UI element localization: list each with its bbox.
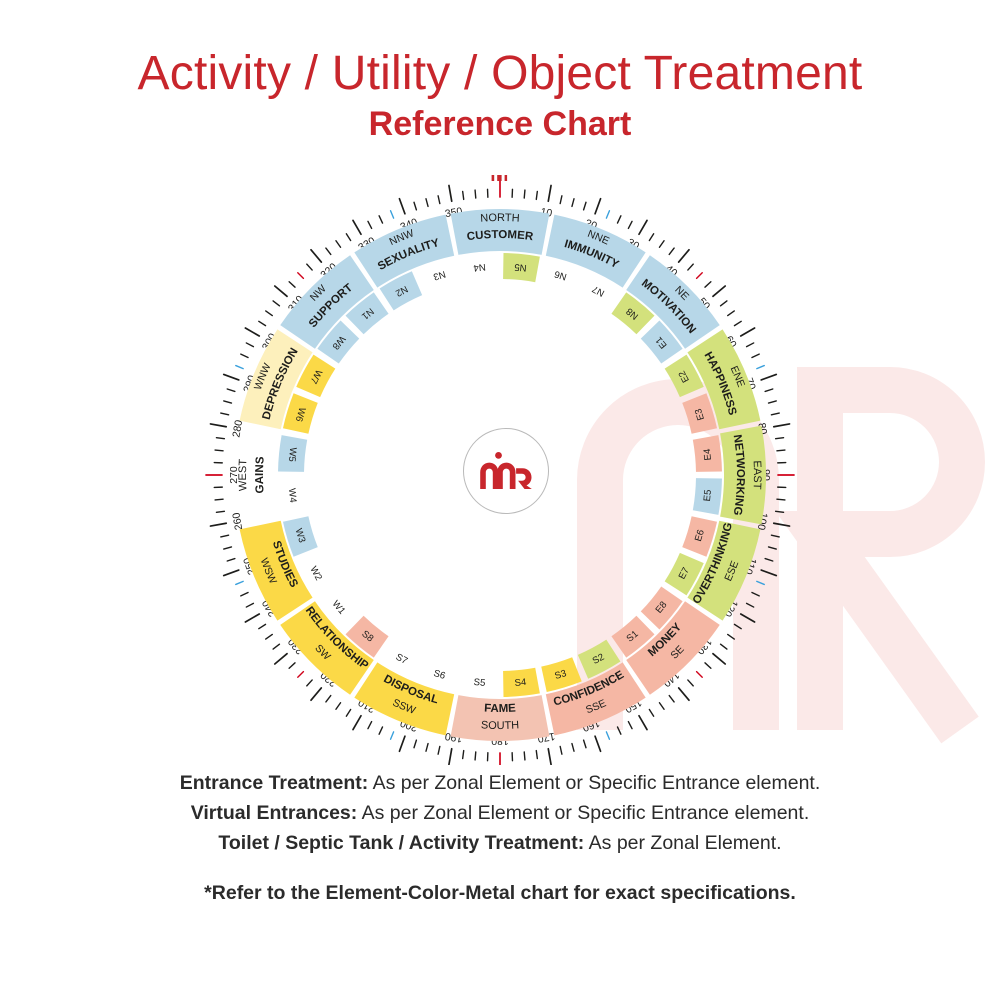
title-line-1: Activity / Utility / Object Treatment bbox=[0, 48, 1000, 100]
title-line-2: Reference Chart bbox=[0, 104, 1000, 144]
degree-tick bbox=[245, 614, 259, 622]
degree-tick bbox=[734, 321, 741, 325]
degree-tick bbox=[765, 559, 773, 561]
degree-tick bbox=[761, 374, 776, 379]
degree-tick bbox=[774, 523, 790, 526]
degree-tick bbox=[346, 709, 350, 716]
degree-tick bbox=[236, 581, 243, 584]
degree-tick bbox=[336, 703, 341, 710]
degree-tick bbox=[606, 732, 609, 739]
degree-tick bbox=[679, 688, 689, 700]
page-title: Activity / Utility / Object Treatment Re… bbox=[0, 48, 1000, 144]
degree-tick bbox=[236, 366, 243, 369]
degree-tick bbox=[259, 321, 266, 325]
degree-tick bbox=[245, 328, 259, 336]
degree-tick bbox=[475, 190, 476, 198]
degree-tick bbox=[669, 248, 674, 254]
degree-tick bbox=[639, 716, 647, 730]
degree-tick bbox=[414, 202, 416, 210]
subzone-label-e5: E5 bbox=[702, 489, 714, 502]
degree-tick bbox=[463, 191, 464, 199]
degree-tick bbox=[326, 696, 331, 702]
degree-tick bbox=[669, 696, 674, 702]
degree-tick bbox=[224, 401, 232, 403]
sector-south[interactable] bbox=[451, 695, 550, 741]
degree-tick bbox=[438, 746, 440, 754]
degree-tick bbox=[216, 438, 224, 439]
degree-tick bbox=[346, 234, 350, 241]
degree-tick bbox=[649, 709, 653, 716]
degree-tick bbox=[757, 581, 764, 584]
degree-tick bbox=[721, 644, 727, 649]
degree-tick bbox=[368, 221, 372, 228]
footer-row: Entrance Treatment: As per Zonal Element… bbox=[0, 768, 1000, 798]
degree-tick bbox=[246, 343, 253, 347]
footer-note: *Refer to the Element-Color-Metal chart … bbox=[0, 882, 1000, 905]
degree-tick bbox=[765, 389, 773, 391]
degree-tick bbox=[399, 736, 404, 751]
degree-tick bbox=[210, 523, 226, 526]
degree-tick bbox=[289, 282, 295, 287]
degree-tick bbox=[426, 199, 428, 207]
degree-tick bbox=[227, 559, 235, 561]
degree-tick bbox=[215, 499, 223, 500]
degree-tick bbox=[298, 672, 304, 678]
degree-tick bbox=[216, 511, 224, 512]
degree-tick bbox=[463, 751, 464, 759]
degree-tick bbox=[705, 282, 711, 287]
degree-tick bbox=[776, 511, 784, 512]
degree-tick bbox=[697, 672, 703, 678]
degree-tick bbox=[536, 191, 537, 199]
degree-tick bbox=[757, 366, 764, 369]
degree-tick bbox=[679, 250, 689, 262]
sector-direction-east: EAST bbox=[751, 460, 763, 490]
subzone-label-w4: W4 bbox=[286, 488, 298, 504]
subzone-label-s7: S7 bbox=[394, 652, 410, 667]
footer-notes: Entrance Treatment: As per Zonal Element… bbox=[0, 768, 1000, 905]
degree-tick bbox=[697, 273, 703, 279]
degree-tick bbox=[266, 311, 273, 316]
degree-tick bbox=[713, 286, 725, 296]
footer-row-label: Entrance Treatment: bbox=[180, 772, 369, 794]
degree-tick bbox=[659, 241, 664, 248]
degree-tick bbox=[659, 703, 664, 710]
degree-tick bbox=[241, 354, 248, 357]
degree-tick bbox=[769, 401, 777, 403]
degree-tick bbox=[215, 450, 223, 451]
degree-tick bbox=[560, 746, 562, 754]
degree-tick bbox=[572, 199, 574, 207]
footer-row: Toilet / Septic Tank / Activity Treatmen… bbox=[0, 828, 1000, 858]
degree-tick bbox=[774, 424, 790, 427]
degree-tick bbox=[273, 301, 279, 306]
subzone-label-n3: N3 bbox=[432, 268, 447, 282]
degree-tick bbox=[584, 740, 586, 748]
degree-tick bbox=[628, 722, 632, 729]
degree-tick bbox=[438, 196, 440, 204]
degree-tick bbox=[639, 220, 647, 234]
degree-tick bbox=[241, 592, 248, 595]
degree-tick bbox=[307, 680, 312, 686]
degree-tick bbox=[752, 592, 759, 595]
degree-tick bbox=[426, 744, 428, 752]
degree-tick bbox=[475, 752, 476, 760]
subzone-label-n5: N5 bbox=[514, 261, 527, 273]
degree-tick bbox=[747, 603, 754, 607]
footer-row: Virtual Entrances: As per Zonal Element … bbox=[0, 798, 1000, 828]
degree-tick bbox=[728, 634, 735, 639]
degree-tick bbox=[777, 499, 785, 500]
degree-tick bbox=[728, 311, 735, 316]
degree-tick bbox=[224, 547, 232, 549]
degree-tick bbox=[224, 570, 239, 575]
degree-tick bbox=[595, 199, 600, 214]
degree-tick bbox=[266, 634, 273, 639]
degree-tick bbox=[326, 248, 331, 254]
degree-tick bbox=[734, 624, 741, 628]
degree-tick bbox=[560, 196, 562, 204]
sector-direction-south: SOUTH bbox=[481, 719, 520, 732]
degree-label: 260 bbox=[230, 511, 245, 530]
degree-tick bbox=[221, 413, 229, 415]
degree-tick bbox=[449, 185, 452, 201]
degree-tick bbox=[713, 654, 725, 664]
degree-tick bbox=[752, 354, 759, 357]
degree-tick bbox=[761, 570, 776, 575]
degree-tick bbox=[548, 749, 551, 765]
degree-tick bbox=[353, 716, 361, 730]
degree-tick bbox=[617, 216, 620, 223]
subzone-label-w1: W1 bbox=[330, 599, 348, 617]
degree-tick bbox=[336, 241, 341, 248]
degree-tick bbox=[584, 202, 586, 210]
degree-tick bbox=[399, 199, 404, 214]
degree-tick bbox=[536, 751, 537, 759]
degree-tick bbox=[273, 644, 279, 649]
sector-name-fame: FAME bbox=[484, 702, 517, 715]
degree-tick bbox=[572, 744, 574, 752]
degree-tick bbox=[353, 220, 361, 234]
subzone-label-s5: S5 bbox=[473, 677, 486, 689]
degree-tick bbox=[379, 216, 382, 223]
subzone-label-s4: S4 bbox=[514, 677, 527, 689]
degree-tick bbox=[769, 547, 777, 549]
degree-tick bbox=[275, 654, 287, 664]
footer-row-label: Toilet / Septic Tank / Activity Treatmen… bbox=[218, 832, 584, 854]
degree-tick bbox=[747, 343, 754, 347]
degree-tick bbox=[776, 438, 784, 439]
degree-tick bbox=[311, 688, 321, 700]
north-logo-marker-icon bbox=[492, 175, 508, 181]
sector-direction-north: NORTH bbox=[480, 212, 520, 225]
subzone-label-e4: E4 bbox=[702, 447, 714, 460]
subzone-label-n6: N6 bbox=[553, 268, 568, 282]
degree-tick bbox=[595, 736, 600, 751]
degree-tick bbox=[628, 221, 632, 228]
degree-tick bbox=[368, 722, 372, 729]
footer-row-label: Virtual Entrances: bbox=[191, 802, 358, 824]
degree-tick bbox=[246, 603, 253, 607]
subzone-label-n7: N7 bbox=[591, 283, 607, 298]
degree-tick bbox=[777, 450, 785, 451]
degree-label: 280 bbox=[230, 419, 245, 438]
sector-name-gains: GAINS bbox=[254, 456, 267, 494]
degree-tick bbox=[741, 328, 755, 336]
degree-tick bbox=[688, 680, 693, 686]
degree-tick bbox=[617, 727, 620, 734]
degree-tick bbox=[289, 663, 295, 668]
sector-direction-west: WEST bbox=[237, 458, 250, 491]
subzone-label-s6: S6 bbox=[432, 668, 446, 682]
degree-tick bbox=[227, 389, 235, 391]
degree-tick bbox=[414, 740, 416, 748]
degree-tick bbox=[771, 413, 779, 415]
degree-tick bbox=[548, 185, 551, 201]
footer-row-value: As per Zonal Element or Specific Entranc… bbox=[368, 772, 820, 794]
degree-tick bbox=[307, 264, 312, 270]
subzone-label-w5: W5 bbox=[286, 447, 298, 462]
subzone-label-n4: N4 bbox=[472, 261, 486, 273]
degree-tick bbox=[688, 264, 693, 270]
footer-row-value: As per Zonal Element. bbox=[584, 832, 781, 854]
subzone-label-w2: W2 bbox=[307, 565, 323, 583]
degree-tick bbox=[210, 424, 226, 427]
degree-tick bbox=[224, 374, 239, 379]
degree-tick bbox=[721, 301, 727, 306]
degree-tick bbox=[221, 535, 229, 537]
degree-tick bbox=[298, 273, 304, 279]
degree-tick bbox=[391, 732, 394, 739]
degree-tick bbox=[311, 250, 321, 262]
degree-tick bbox=[449, 749, 452, 765]
degree-tick bbox=[606, 211, 609, 218]
degree-tick bbox=[649, 234, 653, 241]
center-logo bbox=[463, 428, 549, 514]
degree-tick bbox=[524, 190, 525, 198]
degree-tick bbox=[391, 211, 394, 218]
degree-tick bbox=[741, 614, 755, 622]
footer-row-value: As per Zonal Element or Specific Entranc… bbox=[357, 802, 809, 824]
degree-tick bbox=[705, 663, 711, 668]
degree-tick bbox=[275, 286, 287, 296]
degree-tick bbox=[259, 624, 266, 628]
degree-tick bbox=[379, 727, 382, 734]
mr-logo-icon bbox=[479, 452, 533, 490]
degree-tick bbox=[771, 535, 779, 537]
degree-tick bbox=[524, 752, 525, 760]
